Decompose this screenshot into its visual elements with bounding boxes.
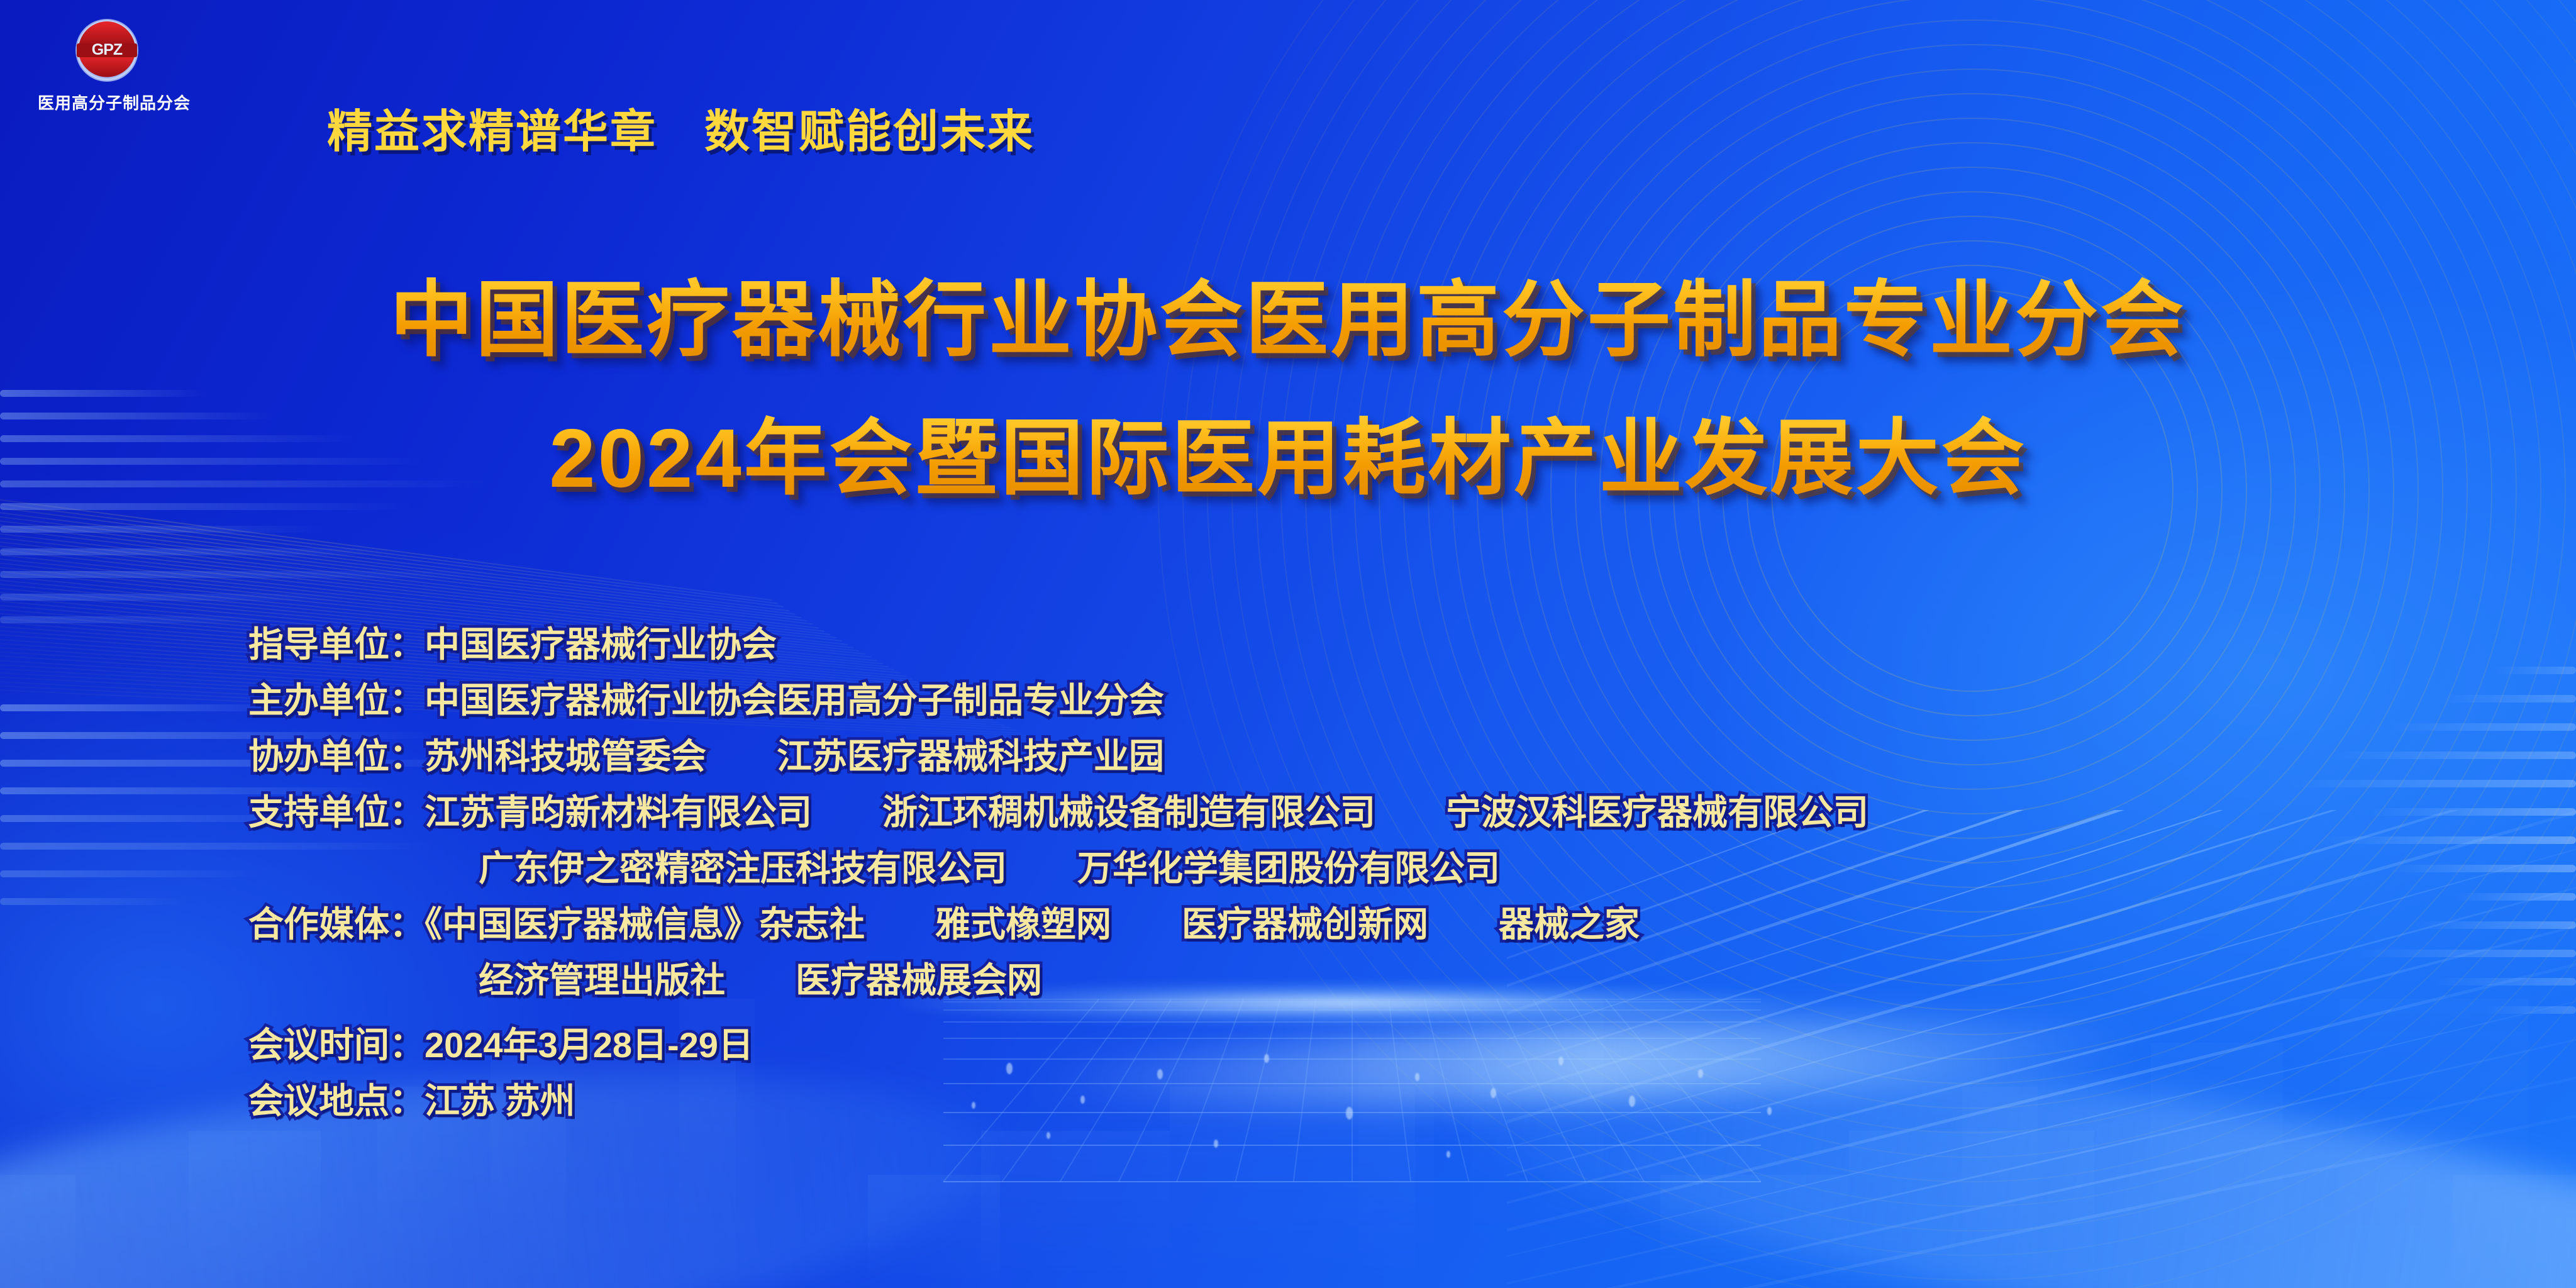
detail-row-host: 主办单位：中国医疗器械行业协会医用高分子制品专业分会 <box>248 672 1868 728</box>
banner-content: GPZ 医用高分子制品分会 精益求精谱华章 数智赋能创未来 中国医疗器械行业协会… <box>0 0 2576 1288</box>
title-line-1: 中国医疗器械行业协会医用高分子制品专业分会 <box>0 253 2576 373</box>
logo-name-text: 医用高分子制品分会 <box>38 91 176 114</box>
association-logo: GPZ 医用高分子制品分会 <box>38 14 176 114</box>
svg-text:GPZ: GPZ <box>92 41 123 58</box>
details-block: 指导单位：中国医疗器械行业协会 主办单位：中国医疗器械行业协会医用高分子制品专业… <box>248 616 1868 1129</box>
detail-row-support-cont-text: 广东伊之密精密注压科技有限公司 万华化学集团股份有限公司 <box>479 848 1500 888</box>
detail-row-media-cont-text: 经济管理出版社 医疗器械展会网 <box>479 960 1042 1000</box>
title-line-1-text: 中国医疗器械行业协会医用高分子制品专业分会 <box>390 253 2186 373</box>
detail-row-support: 支持单位：江苏青昀新材料有限公司 浙江环稠机械设备制造有限公司 宁波汉科医疗器械… <box>248 784 1868 840</box>
detail-row-location: 会议地点：江苏 苏州 <box>248 1073 1868 1129</box>
gpz-logo-icon: GPZ <box>63 14 151 88</box>
detail-row-media: 合作媒体：《中国医疗器械信息》杂志社 雅式橡塑网 医疗器械创新网 器械之家 <box>248 896 1868 952</box>
detail-row-guidance: 指导单位：中国医疗器械行业协会 <box>248 616 1868 672</box>
tagline: 精益求精谱华章 数智赋能创未来 <box>327 94 1035 160</box>
title-line-2-text: 2024年会暨国际医用耗材产业发展大会 <box>549 391 2027 511</box>
title-line-2: 2024年会暨国际医用耗材产业发展大会 <box>0 391 2576 511</box>
detail-row-date: 会议时间：2024年3月28日-29日 <box>248 1017 1868 1073</box>
detail-row-support-cont: 广东伊之密精密注压科技有限公司 万华化学集团股份有限公司 <box>248 840 1868 896</box>
detail-row-media-cont: 经济管理出版社 医疗器械展会网 <box>248 952 1868 1008</box>
detail-row-coorganizer: 协办单位：苏州科技城管委会 江苏医疗器械科技产业园 <box>248 728 1868 784</box>
conference-banner: GPZ 医用高分子制品分会 精益求精谱华章 数智赋能创未来 中国医疗器械行业协会… <box>0 0 2576 1288</box>
